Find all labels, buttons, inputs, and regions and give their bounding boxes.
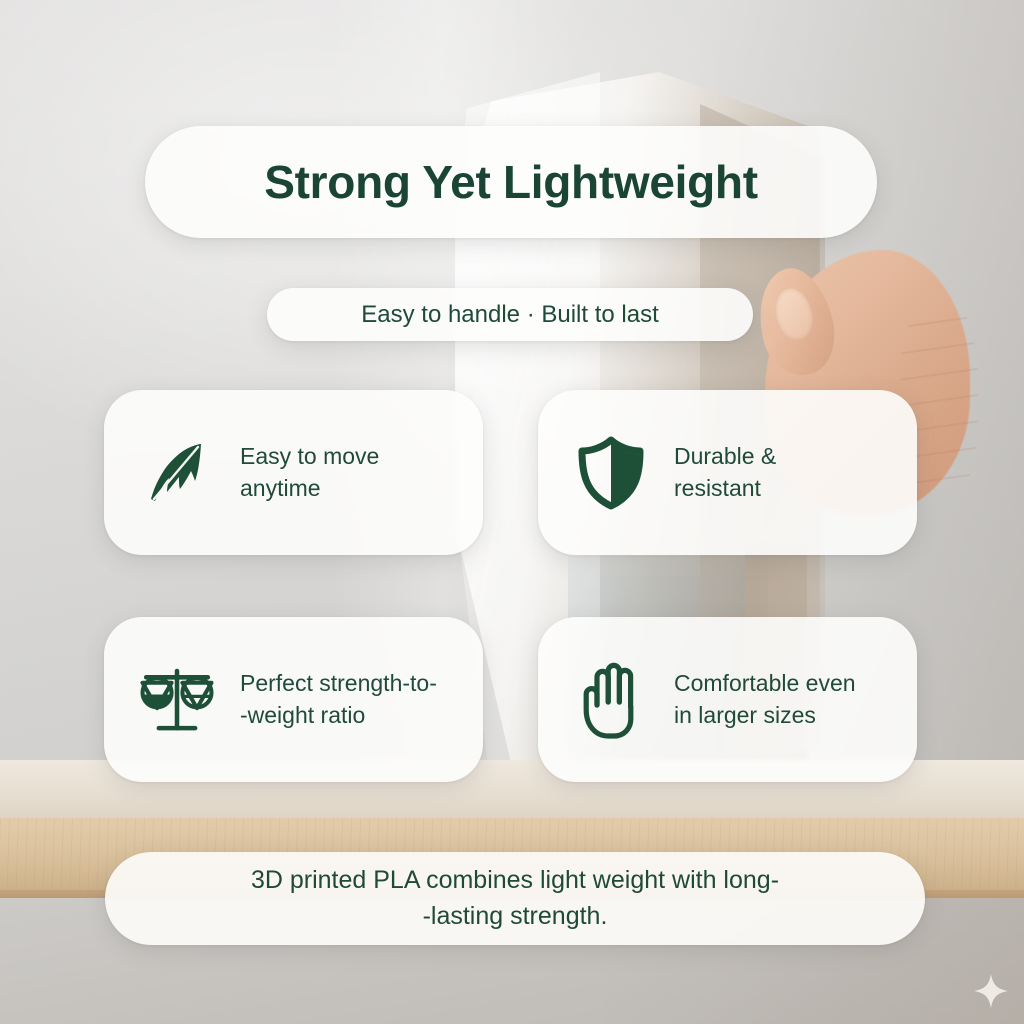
four-point-star-icon	[972, 972, 1010, 1010]
page-title: Strong Yet Lightweight	[264, 155, 757, 209]
feature-card-easy-to-move[interactable]: Easy to move anytime	[104, 390, 483, 555]
feature-card-label: Comfortable even in larger sizes	[674, 668, 856, 731]
feature-card-label: Durable & resistant	[674, 441, 776, 504]
overlay-ui: Strong Yet Lightweight Easy to handle · …	[0, 0, 1024, 1024]
subtitle-pill: Easy to handle · Built to last	[267, 288, 753, 341]
feature-card-label: Easy to move anytime	[240, 441, 379, 504]
feature-card-label: Perfect strength-to- -weight ratio	[240, 668, 437, 731]
feather-icon	[138, 434, 216, 512]
caption-pill: 3D printed PLA combines light weight wit…	[105, 852, 925, 945]
balance-scale-icon	[138, 661, 216, 739]
hand-icon	[572, 661, 650, 739]
feature-card-comfortable[interactable]: Comfortable even in larger sizes	[538, 617, 917, 782]
shield-icon	[572, 434, 650, 512]
feature-card-strength-to-weight[interactable]: Perfect strength-to- -weight ratio	[104, 617, 483, 782]
footer-caption: 3D printed PLA combines light weight wit…	[251, 863, 779, 934]
title-pill: Strong Yet Lightweight	[145, 126, 877, 238]
infographic-canvas: Strong Yet Lightweight Easy to handle · …	[0, 0, 1024, 1024]
feature-card-durable[interactable]: Durable & resistant	[538, 390, 917, 555]
page-subtitle: Easy to handle · Built to last	[361, 301, 659, 329]
